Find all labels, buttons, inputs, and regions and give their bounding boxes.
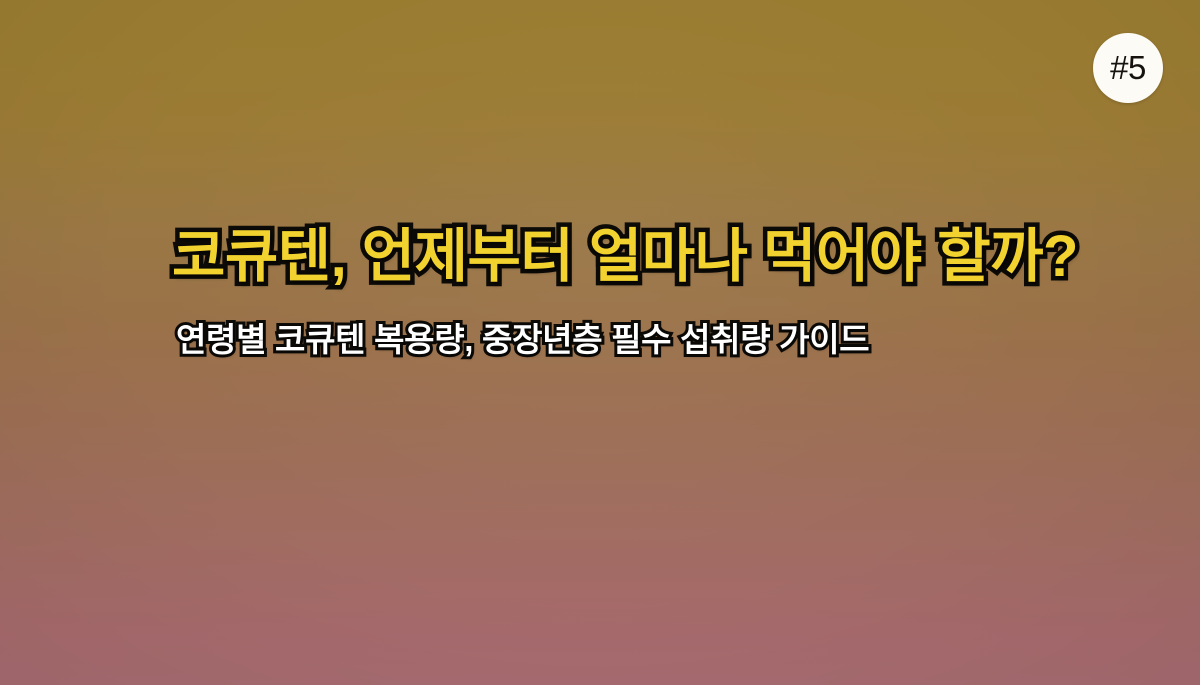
slide-title: 코큐텐, 언제부터 얼마나 먹어야 할까?: [172, 218, 1112, 295]
slide-number-badge: #5: [1093, 33, 1163, 103]
slide-text-block: 코큐텐, 언제부터 얼마나 먹어야 할까? 연령별 코큐텐 복용량, 중장년층 …: [172, 218, 1112, 360]
slide-subtitle: 연령별 코큐텐 복용량, 중장년층 필수 섭취량 가이드: [176, 319, 1112, 360]
slide-canvas: #5 코큐텐, 언제부터 얼마나 먹어야 할까? 연령별 코큐텐 복용량, 중장…: [0, 0, 1200, 685]
slide-number-label: #5: [1110, 51, 1146, 84]
